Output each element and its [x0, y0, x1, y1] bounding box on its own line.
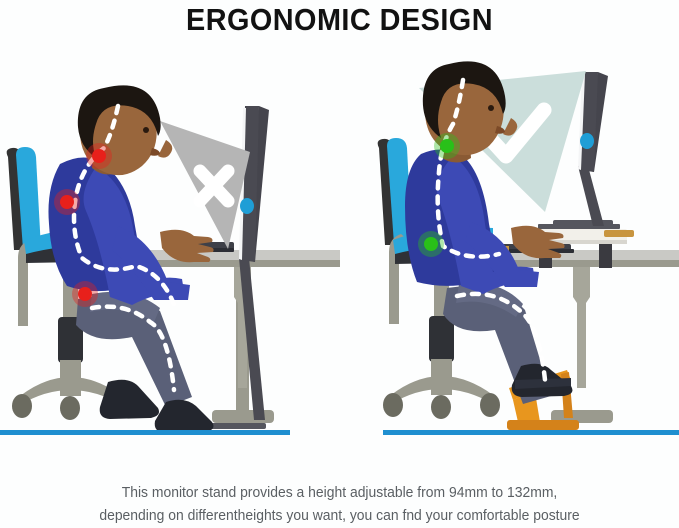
floor-line-left-2	[178, 430, 290, 435]
pain-marker-neck	[86, 143, 112, 169]
good-marker-neck	[434, 133, 460, 159]
good-marker-lower-back	[418, 231, 444, 257]
caption-line-1: This monitor stand provides a height adj…	[14, 482, 666, 505]
panel-correct-posture	[339, 44, 679, 444]
pain-marker-upper-back	[54, 189, 80, 215]
caption: This monitor stand provides a height adj…	[14, 482, 666, 528]
floor-line-right	[383, 430, 679, 435]
floor-line-left	[0, 430, 178, 435]
panel-incorrect-posture	[0, 44, 340, 444]
ergonomic-design-infographic: ERGONOMIC DESIGN	[0, 0, 679, 528]
page-title: ERGONOMIC DESIGN	[24, 2, 655, 38]
caption-line-2: depending on differentheights you want, …	[14, 505, 666, 528]
pain-marker-lower-back	[72, 281, 98, 307]
